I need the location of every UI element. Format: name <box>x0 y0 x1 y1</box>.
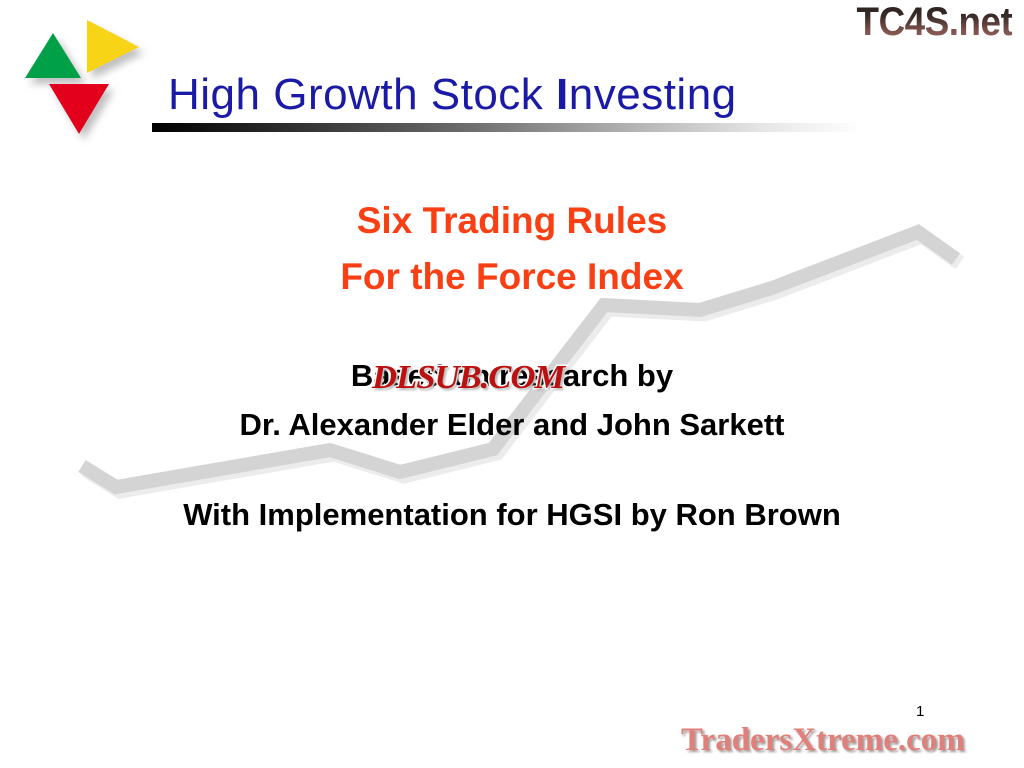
credit-line-authors: Dr. Alexander Elder and John Sarkett <box>0 407 1024 443</box>
presentation-slide: TC4S.net High Growth Stock Investing Six… <box>0 0 1024 768</box>
triangle-up-green-icon <box>25 33 81 78</box>
header-gradient-divider <box>152 123 862 132</box>
tc4s-brand-label: TC4S.net <box>856 2 1012 42</box>
page-title-suffix: nvesting <box>569 70 737 119</box>
slide-headline-line-2: For the Force Index <box>0 249 1024 305</box>
page-title: High Growth Stock Investing <box>168 70 737 120</box>
triangle-down-red-icon <box>49 84 109 134</box>
slide-headline: Six Trading Rules For the Force Index <box>0 193 1024 304</box>
slide-number: 1 <box>916 703 924 720</box>
dlsub-watermark: DLSUB.COM <box>372 359 564 397</box>
three-triangles-logo <box>8 8 158 148</box>
page-title-prefix: High Growth Stock <box>168 70 556 119</box>
tradersxtreme-watermark: TradersXtreme.com <box>681 722 965 759</box>
page-title-emphasis: I <box>556 70 569 119</box>
slide-headline-line-1: Six Trading Rules <box>0 193 1024 249</box>
credit-line-implementation: With Implementation for HGSI by Ron Brow… <box>0 497 1024 533</box>
triangle-right-yellow-icon <box>87 20 139 73</box>
